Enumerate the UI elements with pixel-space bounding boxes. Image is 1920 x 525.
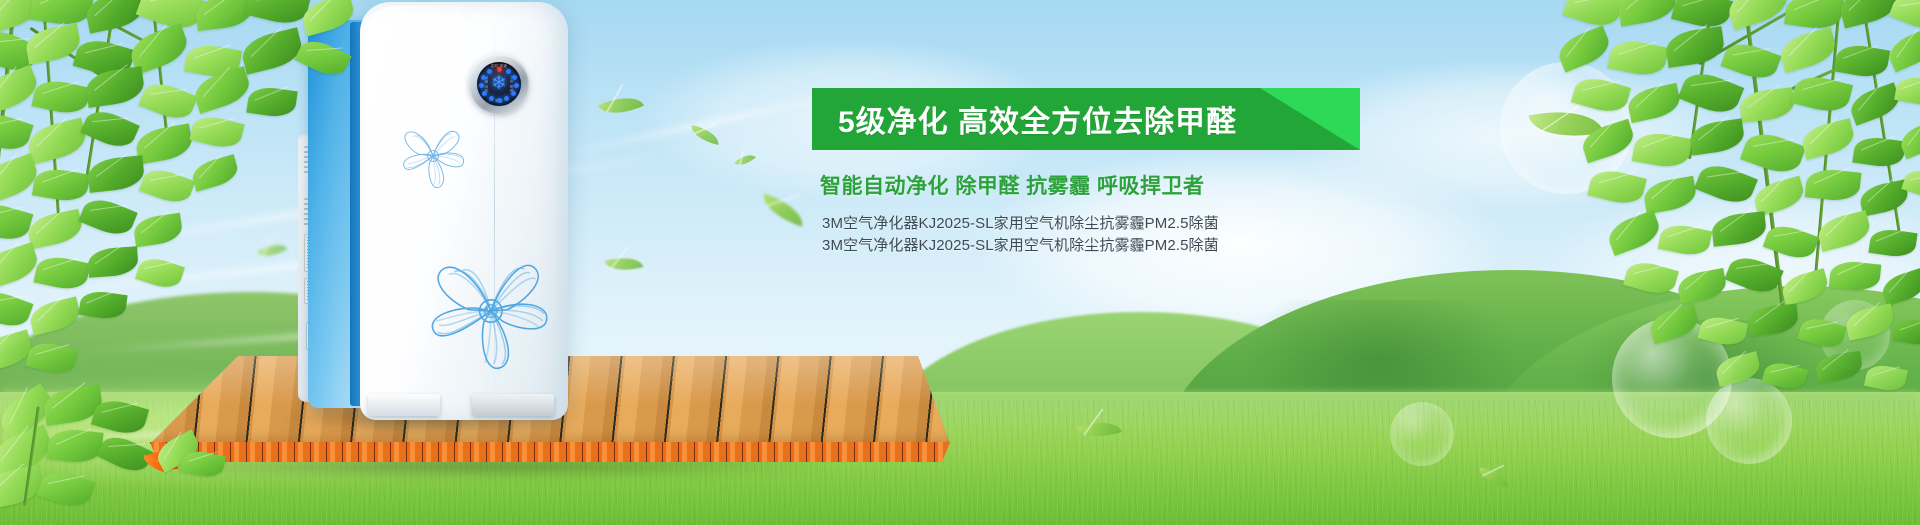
promo-copy-block: 5级净化 高效全方位去除甲醛 智能自动净化 除甲醛 抗雾霾 呼吸捍卫者 3M空气… (812, 88, 1572, 257)
led-indicator (481, 75, 486, 80)
led-indicator (497, 98, 502, 103)
bar-accent-triangle (1260, 88, 1360, 150)
dial-face: 定时 风速 自动 睡眠 开关 童锁 净 化 ❄ (477, 62, 521, 106)
led-indicator (512, 75, 517, 80)
led-indicator (514, 83, 519, 88)
panel-gloss-highlight (364, 6, 460, 416)
subheadline-text: 智能自动净化 除甲醛 抗雾霾 呼吸捍卫者 (820, 170, 1572, 200)
product-promo-banner: ⚠ 定时 风速 自动 睡眠 开关 童锁 净 化 (0, 0, 1920, 525)
purifier-foot (368, 394, 440, 416)
description-line: 3M空气净化器KJ2025-SL家用空气机除尘抗雾霾PM2.5除菌 (822, 213, 1572, 235)
led-indicator (479, 83, 484, 88)
led-indicator (482, 91, 487, 96)
headline-text: 5级净化 高效全方位去除甲醛 (838, 97, 1237, 141)
description-list: 3M空气净化器KJ2025-SL家用空气机除尘抗雾霾PM2.5除菌 3M空气净化… (822, 213, 1572, 257)
led-indicator (489, 96, 494, 101)
control-panel-dial[interactable]: 定时 风速 自动 睡眠 开关 童锁 净 化 ❄ (469, 54, 529, 114)
air-purifier-product: ⚠ 定时 风速 自动 睡眠 开关 童锁 净 化 (298, 2, 568, 420)
description-line: 3M空气净化器KJ2025-SL家用空气机除尘抗雾霾PM2.5除菌 (822, 235, 1572, 257)
led-indicator-alert (497, 67, 502, 72)
led-indicator (504, 96, 509, 101)
snowflake-icon: ❄ (489, 74, 509, 94)
foreground-leaf-cluster (156, 438, 226, 488)
deck-front-edge (150, 442, 950, 462)
led-indicator (511, 91, 516, 96)
headline-green-bar: 5级净化 高效全方位去除甲醛 (812, 88, 1360, 150)
purifier-feet (368, 394, 568, 420)
purifier-foot (472, 394, 554, 416)
